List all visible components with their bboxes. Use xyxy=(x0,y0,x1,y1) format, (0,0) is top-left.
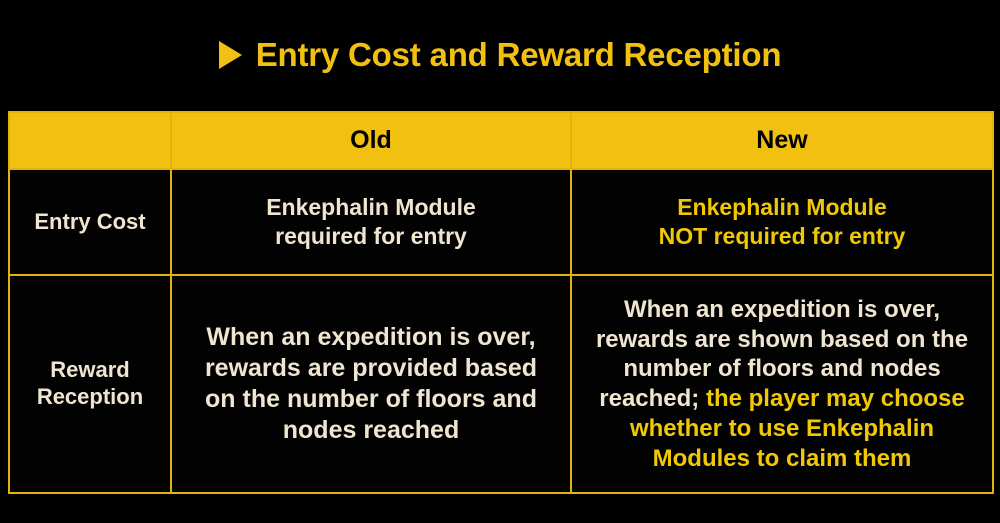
cell-reward-reception-new: When an expedition is over, rewards are … xyxy=(571,275,993,493)
cell-line: Enkephalin Module xyxy=(572,193,992,222)
table-row-reward-reception: Reward Reception When an expedition is o… xyxy=(9,275,993,493)
cell-line: Modules to claim them xyxy=(572,444,992,474)
cell-line: whether to use Enkephalin xyxy=(572,414,992,444)
page-title-text: Entry Cost and Reward Reception xyxy=(256,38,782,71)
right-triangle-bullet-icon xyxy=(219,41,242,69)
cell-line: on the number of floors and xyxy=(172,384,570,415)
slide-root: Entry Cost and Reward Reception Old New … xyxy=(0,0,1000,523)
cell-line-head: reached; xyxy=(599,385,706,412)
row-label-entry-cost: Entry Cost xyxy=(9,169,171,275)
comparison-table: Old New Entry Cost Enkephalin Module req… xyxy=(8,111,994,494)
table-header-blank xyxy=(9,112,171,169)
cell-line: NOT required for entry xyxy=(572,222,992,251)
table-row-entry-cost: Entry Cost Enkephalin Module required fo… xyxy=(9,169,993,275)
cell-line: number of floors and nodes xyxy=(572,354,992,384)
cell-entry-cost-old: Enkephalin Module required for entry xyxy=(171,169,571,275)
cell-line-tail: the player may choose xyxy=(706,385,965,412)
cell-line: required for entry xyxy=(172,222,570,251)
table-header-old: Old xyxy=(171,112,571,169)
row-label-line: Reception xyxy=(37,384,143,409)
cell-line: rewards are shown based on the xyxy=(572,325,992,355)
cell-line: nodes reached xyxy=(172,415,570,446)
row-label-reward-reception: Reward Reception xyxy=(9,275,171,493)
page-title: Entry Cost and Reward Reception xyxy=(0,26,1000,82)
cell-entry-cost-new: Enkephalin Module NOT required for entry xyxy=(571,169,993,275)
cell-line: When an expedition is over, xyxy=(172,322,570,353)
table-header-row: Old New xyxy=(9,112,993,169)
cell-reward-reception-old: When an expedition is over, rewards are … xyxy=(171,275,571,493)
cell-line: When an expedition is over, xyxy=(572,295,992,325)
table-header-new: New xyxy=(571,112,993,169)
row-label-line: Reward xyxy=(50,357,129,382)
cell-line-mixed: reached; the player may choose xyxy=(572,384,992,414)
comparison-table-container: Old New Entry Cost Enkephalin Module req… xyxy=(8,111,992,494)
cell-line: Enkephalin Module xyxy=(172,193,570,222)
cell-line: rewards are provided based xyxy=(172,353,570,384)
